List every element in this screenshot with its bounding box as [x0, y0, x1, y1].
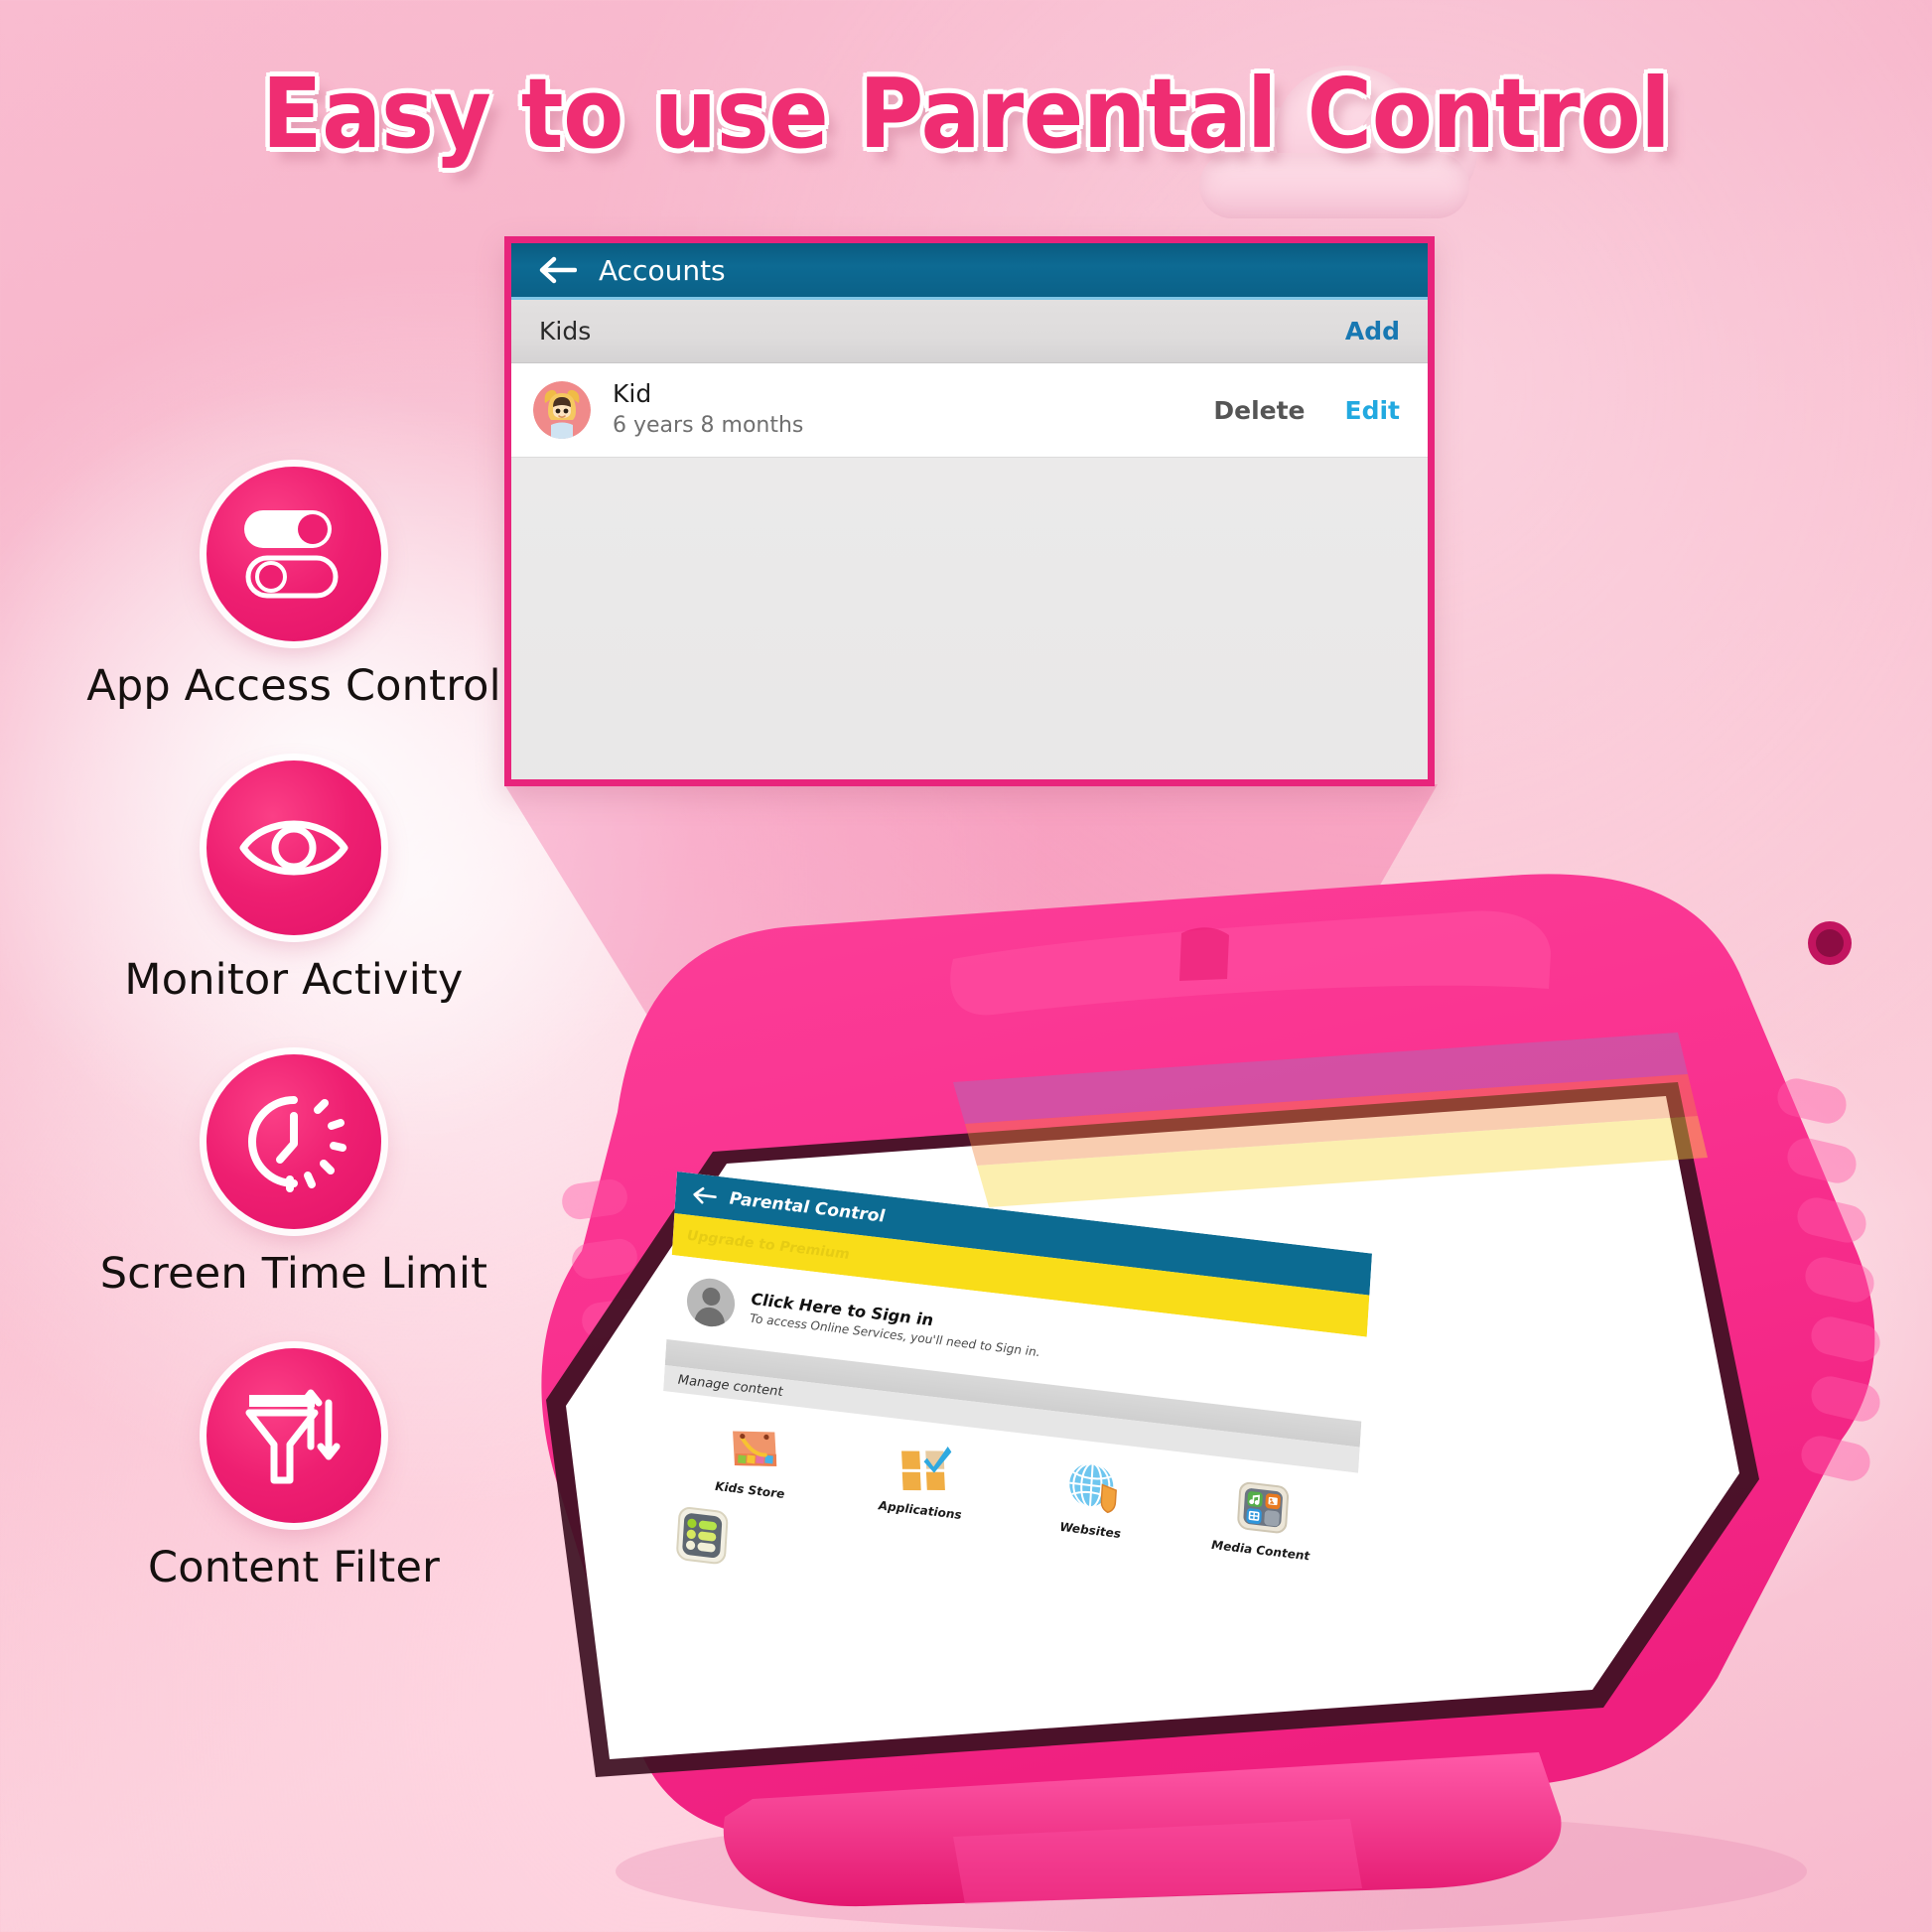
poster-canvas: Easy to use Parental Control App Access …	[0, 0, 1932, 1932]
upgrade-banner-label: Upgrade to Premium	[687, 1228, 851, 1263]
add-account-button[interactable]: Add	[1345, 317, 1400, 345]
sign-in-text: Click Here to Sign in To access Online S…	[750, 1289, 1042, 1358]
accounts-panel: Accounts Kids Add Kid 6 years 8 months	[504, 236, 1435, 786]
delete-button[interactable]: Delete	[1213, 396, 1305, 425]
feature-app-access-control: App Access Control	[85, 467, 502, 711]
eye-icon	[207, 760, 381, 935]
account-name: Kid	[613, 378, 1213, 409]
page-title: Easy to use Parental Control	[262, 58, 1671, 170]
tablet-screen-ui: Parental Control Upgrade to Premium Clic…	[652, 1172, 1372, 1651]
row-actions: Delete Edit	[1213, 396, 1400, 425]
user-placeholder-icon	[686, 1276, 737, 1329]
table-row[interactable]: Kid 6 years 8 months Delete Edit	[511, 363, 1428, 458]
toggle-switches-icon	[207, 467, 381, 641]
kids-section-bar: Kids Add	[511, 300, 1428, 363]
funnel-filter-icon	[207, 1348, 381, 1523]
back-arrow-icon[interactable]	[537, 255, 577, 285]
accounts-header: Accounts	[511, 243, 1428, 300]
headline-block: Easy to use Parental Control	[0, 58, 1932, 170]
clock-timer-icon	[207, 1054, 381, 1229]
accounts-empty-area	[511, 458, 1428, 786]
settings-list-icon	[674, 1505, 730, 1567]
avatar	[533, 381, 591, 439]
tablet-screen-title: Parental Control	[729, 1188, 886, 1226]
panel-title: Accounts	[599, 254, 726, 287]
back-arrow-icon[interactable]	[691, 1185, 717, 1206]
account-meta: Kid 6 years 8 months	[613, 378, 1213, 441]
feature-label: App Access Control	[85, 661, 502, 711]
account-age: 6 years 8 months	[613, 410, 1213, 442]
edit-button[interactable]: Edit	[1345, 396, 1401, 425]
kids-section-label: Kids	[539, 317, 591, 345]
